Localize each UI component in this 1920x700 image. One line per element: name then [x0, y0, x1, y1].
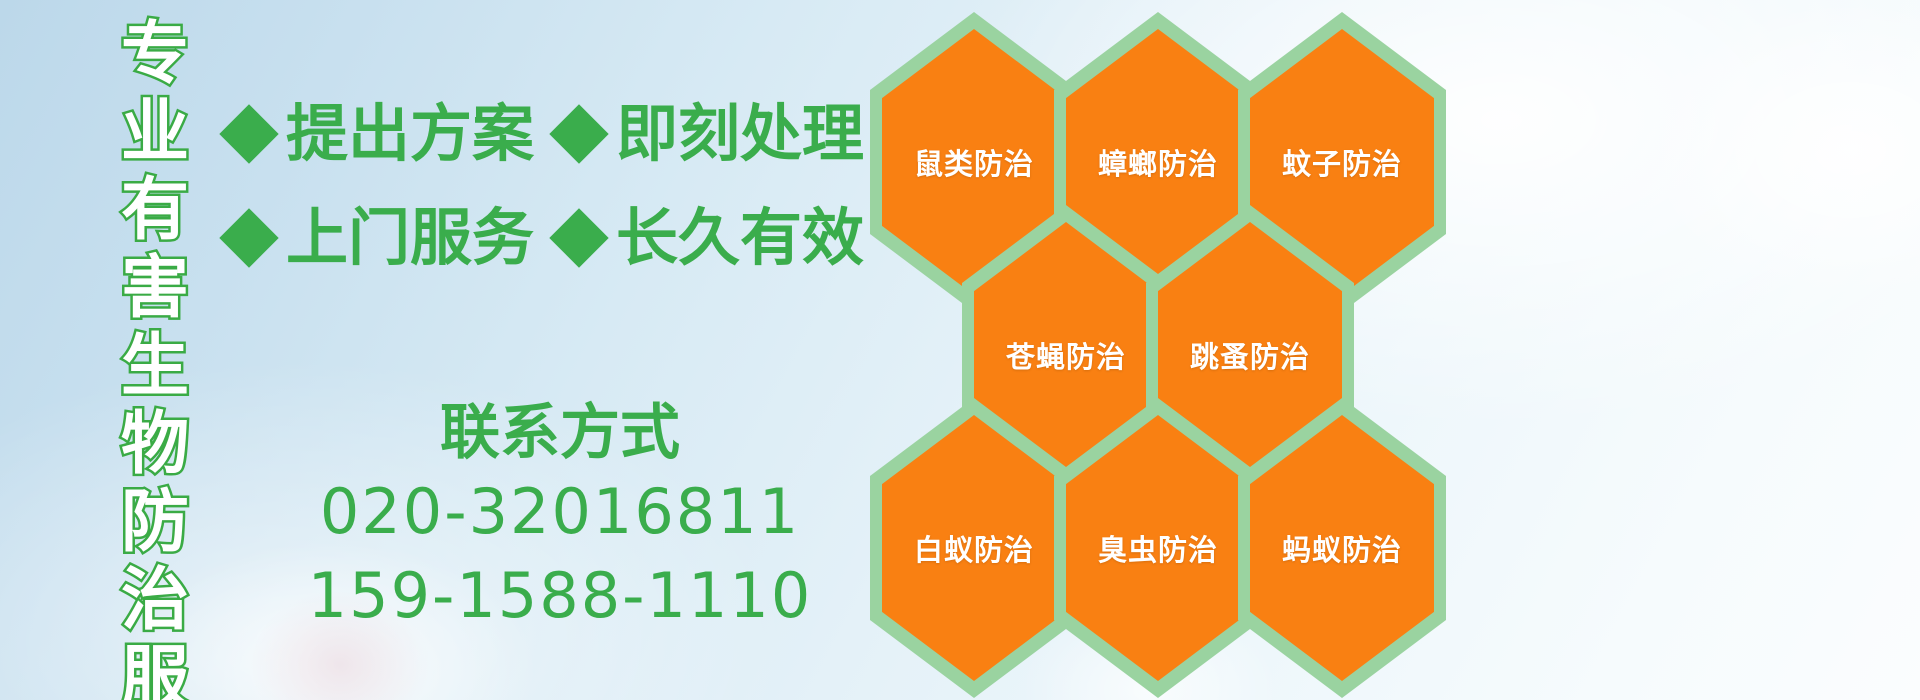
hex-label: 跳蚤防治 — [1190, 334, 1310, 376]
hex-label: 白蚁防治 — [914, 527, 1034, 569]
feature-item-immediate-handling: 即刻处理 — [558, 101, 864, 167]
contact-block: 联系方式 020-32016811 159-1588-1110 — [280, 396, 840, 638]
background-glow-d — [1640, 0, 1920, 300]
feature-label: 提出方案 — [286, 101, 534, 167]
headline-char-1: 专 — [121, 16, 189, 94]
promo-banner: 专 业 有 害 生 物 防 治 服 务 提出方案 即刻处理 上门服务 — [0, 0, 1920, 700]
headline-char-6: 物 — [121, 406, 189, 484]
hex-label: 蟑螂防治 — [1098, 141, 1218, 183]
feature-label: 长久有效 — [616, 205, 864, 271]
feature-item-onsite-service: 上门服务 — [228, 205, 534, 271]
hex-inner: 蚂蚁防治 — [1250, 415, 1434, 681]
contact-title: 联系方式 — [280, 396, 840, 470]
vertical-headline: 专 业 有 害 生 物 防 治 服 务 — [112, 16, 198, 688]
headline-char-4: 害 — [121, 250, 189, 328]
hex-inner: 白蚁防治 — [882, 415, 1066, 681]
hex-label: 臭虫防治 — [1098, 527, 1218, 569]
hex-inner: 臭虫防治 — [1066, 415, 1250, 681]
hex-label: 苍蝇防治 — [1006, 334, 1126, 376]
contact-phone-landline[interactable]: 020-32016811 — [280, 470, 840, 554]
diamond-icon — [219, 104, 278, 163]
diamond-icon — [549, 104, 608, 163]
headline-char-3: 有 — [121, 172, 189, 250]
feature-label: 上门服务 — [286, 205, 534, 271]
feature-label: 即刻处理 — [616, 101, 864, 167]
hex-label: 蚊子防治 — [1282, 141, 1402, 183]
service-hex-grid: 鼠类防治 蟑螂防治 蚊子防治 苍蝇防治 跳蚤防治 白蚁防治 — [860, 0, 1480, 700]
headline-char-7: 防 — [121, 484, 189, 562]
headline-char-8: 治 — [121, 562, 189, 640]
headline-char-5: 生 — [121, 328, 189, 406]
feature-row-2: 上门服务 长久有效 — [228, 186, 868, 290]
feature-item-propose-plan: 提出方案 — [228, 101, 534, 167]
feature-list: 提出方案 即刻处理 上门服务 长久有效 — [228, 82, 868, 290]
hex-label: 蚂蚁防治 — [1282, 527, 1402, 569]
feature-row-1: 提出方案 即刻处理 — [228, 82, 868, 186]
contact-phone-mobile[interactable]: 159-1588-1110 — [280, 554, 840, 638]
hex-label: 鼠类防治 — [914, 141, 1034, 183]
feature-item-long-lasting: 长久有效 — [558, 205, 864, 271]
headline-char-9: 服 — [121, 640, 189, 700]
diamond-icon — [219, 208, 278, 267]
headline-char-2: 业 — [121, 94, 189, 172]
diamond-icon — [549, 208, 608, 267]
